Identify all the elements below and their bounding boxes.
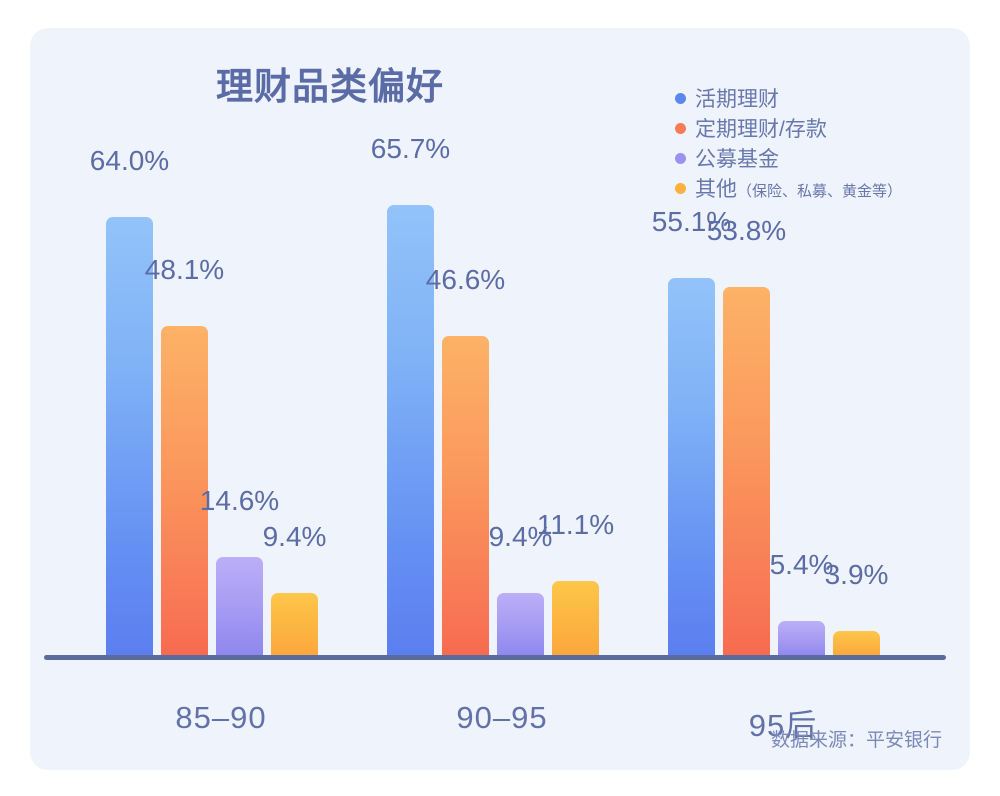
bar-value-label: 53.8% — [707, 215, 786, 247]
bar-2-0[interactable] — [216, 557, 263, 658]
bar-1-2[interactable] — [723, 287, 770, 658]
legend-item-0[interactable]: 活期理财 — [675, 83, 975, 113]
page-title: 理财品类偏好 — [30, 56, 630, 110]
bar-value-label: 11.1% — [537, 509, 614, 541]
bar-3-1[interactable] — [552, 581, 599, 658]
bar-value-label: 3.9% — [825, 559, 889, 591]
plot-area: 64.0% 48.1% 14.6% 9.4% — [42, 118, 958, 658]
bar-value-label: 14.6% — [200, 485, 279, 517]
bar-group-0: 64.0% 48.1% 14.6% 9.4% — [106, 118, 336, 658]
bar-1-1[interactable] — [442, 336, 489, 658]
category-label-0: 85–90 — [106, 700, 336, 736]
bar-value-label: 48.1% — [145, 254, 224, 286]
bar-0-2[interactable] — [668, 278, 715, 658]
bar-3-2[interactable] — [833, 631, 880, 658]
bar-value-label: 65.7% — [371, 133, 450, 165]
legend-label: 活期理财 — [695, 83, 779, 113]
source-note: 数据来源：平安银行 — [771, 725, 942, 752]
chart-card: 理财品类偏好 活期理财 定期理财/存款 公募基金 其他（保险、私募、黄金等） 6… — [30, 28, 970, 770]
bar-2-2[interactable] — [778, 621, 825, 658]
bar-value-label: 64.0% — [90, 145, 169, 177]
bar-group-bars: 55.1% 53.8% 5.4% 3.9% — [668, 118, 898, 658]
bar-value-label: 9.4% — [263, 521, 327, 553]
bar-2-1[interactable] — [497, 593, 544, 658]
bar-3-0[interactable] — [271, 593, 318, 658]
category-label-1: 90–95 — [387, 700, 617, 736]
bar-group-bars: 64.0% 48.1% 14.6% 9.4% — [106, 118, 336, 658]
bar-group-1: 65.7% 46.6% 9.4% 11.1% — [387, 118, 617, 658]
bar-group-bars: 65.7% 46.6% 9.4% 11.1% — [387, 118, 617, 658]
bar-group-2: 55.1% 53.8% 5.4% 3.9% — [668, 118, 898, 658]
bar-value-label: 46.6% — [426, 264, 505, 296]
axis-baseline — [44, 655, 946, 660]
legend-dot-icon — [675, 93, 686, 104]
